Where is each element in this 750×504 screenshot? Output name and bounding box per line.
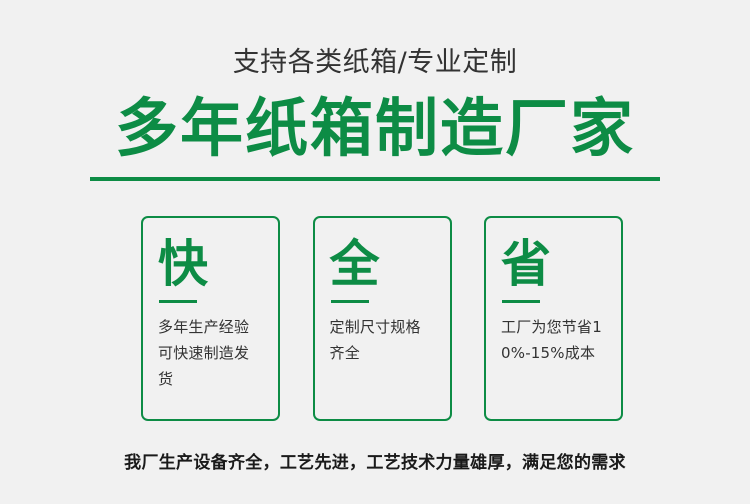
promo-banner: 支持各类纸箱/专业定制 多年纸箱制造厂家 快 多年生产经验可快速制造发货 全 定… — [0, 0, 750, 504]
feature-card-save-char: 省 — [501, 236, 606, 294]
feature-card-fast: 快 多年生产经验可快速制造发货 — [141, 216, 280, 421]
feature-card-fast-divider — [159, 300, 197, 303]
title-divider — [90, 177, 660, 181]
feature-card-save: 省 工厂为您节省10%-15%成本 — [484, 216, 623, 421]
feature-card-save-divider — [502, 300, 540, 303]
feature-card-complete-text: 定制尺寸规格齐全 — [330, 314, 435, 366]
feature-card-fast-text: 多年生产经验可快速制造发货 — [158, 314, 263, 392]
feature-card-complete-divider — [331, 300, 369, 303]
feature-card-fast-char: 快 — [158, 236, 263, 294]
banner-footer-text: 我厂生产设备齐全，工艺先进，工艺技术力量雄厚，满足您的需求 — [0, 450, 750, 476]
banner-subtitle: 支持各类纸箱/专业定制 — [0, 46, 750, 80]
banner-title: 多年纸箱制造厂家 — [0, 92, 750, 166]
feature-card-complete-char: 全 — [330, 236, 435, 294]
feature-card-save-text: 工厂为您节省10%-15%成本 — [501, 314, 606, 366]
feature-card-list: 快 多年生产经验可快速制造发货 全 定制尺寸规格齐全 省 工厂为您节省10%-1… — [141, 216, 623, 421]
feature-card-complete: 全 定制尺寸规格齐全 — [313, 216, 452, 421]
